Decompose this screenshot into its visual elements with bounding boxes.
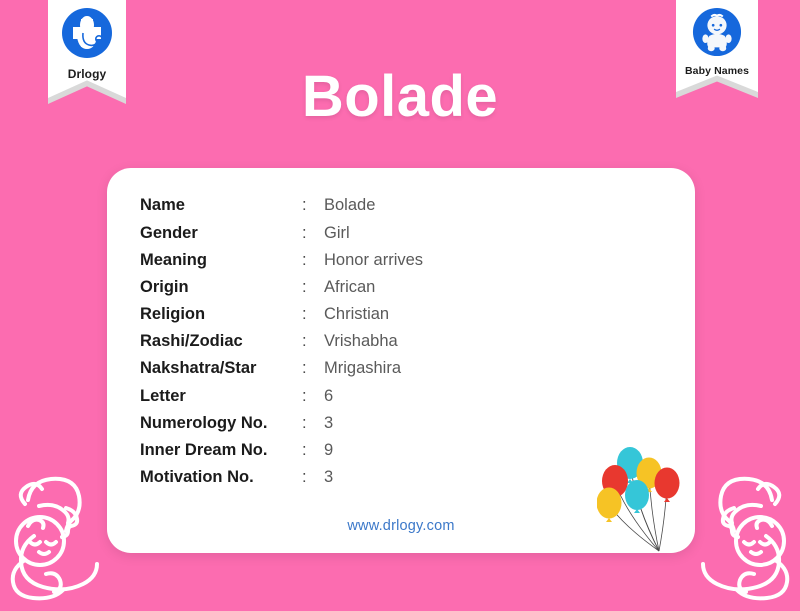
row-label: Gender — [140, 219, 302, 246]
baby-icon — [692, 7, 742, 62]
row-label: Inner Dream No. — [140, 437, 302, 464]
row-label: Motivation No. — [140, 464, 302, 491]
row-label: Meaning — [140, 246, 302, 273]
row-label: Rashi/Zodiac — [140, 328, 302, 355]
row-label: Origin — [140, 274, 302, 301]
row-separator: : — [302, 246, 324, 273]
table-row: Numerology No. : 3 — [140, 410, 423, 437]
row-separator: : — [302, 219, 324, 246]
mother-baby-line-art-icon-left — [0, 456, 104, 606]
table-row: Nakshatra/Star : Mrigashira — [140, 355, 423, 382]
page-title: Bolade — [0, 63, 800, 130]
row-separator: : — [302, 355, 324, 382]
balloons-icon — [597, 439, 689, 553]
row-value: African — [324, 274, 423, 301]
table-row: Religion : Christian — [140, 301, 423, 328]
row-value: Girl — [324, 219, 423, 246]
table-row: Gender : Girl — [140, 219, 423, 246]
row-separator: : — [302, 274, 324, 301]
row-value: Bolade — [324, 192, 423, 219]
row-value: 6 — [324, 382, 423, 409]
site-url-link[interactable]: www.drlogy.com — [107, 518, 695, 534]
row-separator: : — [302, 301, 324, 328]
mother-baby-line-art-icon-right — [696, 456, 800, 606]
row-value: 3 — [324, 464, 423, 491]
row-value: Mrigashira — [324, 355, 423, 382]
row-separator: : — [302, 437, 324, 464]
row-separator: : — [302, 464, 324, 491]
drlogy-medical-cross-doctor-icon — [61, 7, 113, 64]
table-row: Letter : 6 — [140, 382, 423, 409]
name-detail-table: Name : Bolade Gender : Girl Meaning : Ho… — [140, 192, 423, 491]
table-row: Rashi/Zodiac : Vrishabha — [140, 328, 423, 355]
table-row: Inner Dream No. : 9 — [140, 437, 423, 464]
row-label: Numerology No. — [140, 410, 302, 437]
row-value: 3 — [324, 410, 423, 437]
row-value: Vrishabha — [324, 328, 423, 355]
row-separator: : — [302, 192, 324, 219]
table-row: Meaning : Honor arrives — [140, 246, 423, 273]
row-value: 9 — [324, 437, 423, 464]
row-separator: : — [302, 382, 324, 409]
table-row: Name : Bolade — [140, 192, 423, 219]
row-label: Religion — [140, 301, 302, 328]
row-separator: : — [302, 328, 324, 355]
table-row: Motivation No. : 3 — [140, 464, 423, 491]
row-separator: : — [302, 410, 324, 437]
row-label: Name — [140, 192, 302, 219]
row-value: Honor arrives — [324, 246, 423, 273]
row-value: Christian — [324, 301, 423, 328]
row-label: Nakshatra/Star — [140, 355, 302, 382]
row-label: Letter — [140, 382, 302, 409]
table-row: Origin : African — [140, 274, 423, 301]
name-detail-card: Name : Bolade Gender : Girl Meaning : Ho… — [107, 168, 695, 553]
